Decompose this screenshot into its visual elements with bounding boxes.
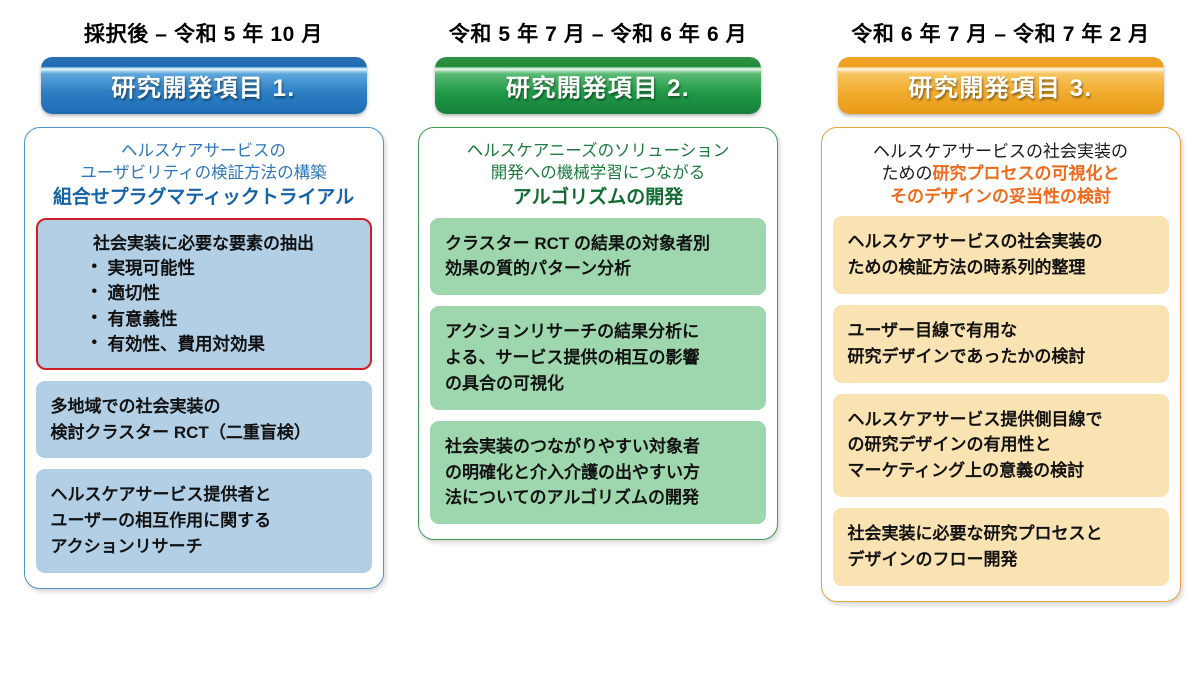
item-card: 多地域での社会実装の 検討クラスター RCT（二重盲検） xyxy=(36,381,372,459)
panel-heading-line-1: ヘルスケアニーズのソリューション xyxy=(432,141,764,163)
item-card: クラスター RCT の結果の対象者別 効果の質的パターン分析 xyxy=(430,218,766,296)
panel-item-3: ヘルスケアサービスの社会実装の ための研究プロセスの可視化と そのデザインの妥当… xyxy=(821,127,1181,602)
panel-heading-line-2-accent: 研究プロセスの可視化と xyxy=(933,164,1120,183)
item-card: 社会実装に必要な研究プロセスと デザインのフロー開発 xyxy=(833,508,1169,586)
list-item: 実現可能性 xyxy=(92,256,360,282)
period-label-2: 令和 5 年 7 月 – 令和 6 年 6 月 xyxy=(449,18,748,48)
card-line: ヘルスケアサービスの社会実装の xyxy=(848,229,1155,255)
highlight-card-title: 社会実装に必要な要素の抽出 xyxy=(48,229,360,256)
panel-heading-line-1: ヘルスケアサービスの社会実装の xyxy=(835,141,1167,163)
card-line: アクションリサーチ xyxy=(51,534,358,560)
list-item: 適切性 xyxy=(92,281,360,307)
column-item-3: 令和 6 年 7 月 – 令和 7 年 2 月 研究開発項目 3. ヘルスケアサ… xyxy=(809,0,1192,700)
panel-heading-line-2: 開発への機械学習につながる xyxy=(432,163,764,185)
item-card: ヘルスケアサービス提供者と ユーザーの相互作用に関する アクションリサーチ xyxy=(36,469,372,572)
card-line: ヘルスケアサービス提供側目線で xyxy=(848,407,1155,433)
banner-label-1: 研究開発項目 1. xyxy=(111,68,295,103)
highlight-card: 社会実装に必要な要素の抽出 実現可能性 適切性 有意義性 有効性、費用対効果 xyxy=(36,218,372,370)
panel-heading-3: ヘルスケアサービスの社会実装の ための研究プロセスの可視化と そのデザインの妥当… xyxy=(833,138,1169,216)
item-card: ユーザー目線で有用な 研究デザインであったかの検討 xyxy=(833,305,1169,383)
panel-heading-line-3: 組合せプラグマティックトライアル xyxy=(38,185,370,210)
card-line: 法についてのアルゴリズムの開発 xyxy=(445,485,752,511)
card-line: の具合の可視化 xyxy=(445,371,752,397)
panel-heading-line-2-plain: ための xyxy=(882,164,933,183)
card-line: ユーザーの相互作用に関する xyxy=(51,508,358,534)
banner-label-2: 研究開発項目 2. xyxy=(506,68,690,103)
panel-heading-line-1: ヘルスケアサービスの xyxy=(38,141,370,163)
card-line: の明確化と介入介護の出やすい方 xyxy=(445,460,752,486)
panel-heading-2: ヘルスケアニーズのソリューション 開発への機械学習につながる アルゴリズムの開発 xyxy=(430,138,766,218)
column-item-2: 令和 5 年 7 月 – 令和 6 年 6 月 研究開発項目 2. ヘルスケアニ… xyxy=(407,0,790,700)
panel-item-1: ヘルスケアサービスの ユーザビリティの検証方法の構築 組合せプラグマティックトラ… xyxy=(24,127,384,589)
panel-heading-line-3: そのデザインの妥当性の検討 xyxy=(835,186,1167,208)
card-line: の研究デザインの有用性と xyxy=(848,432,1155,458)
period-label-1: 採択後 – 令和 5 年 10 月 xyxy=(84,18,323,48)
item-card: アクションリサーチの結果分析に よる、サービス提供の相互の影響 の具合の可視化 xyxy=(430,306,766,409)
card-line: よる、サービス提供の相互の影響 xyxy=(445,345,752,371)
item-card: ヘルスケアサービス提供側目線で の研究デザインの有用性と マーケティング上の意義… xyxy=(833,394,1169,497)
banner-label-3: 研究開発項目 3. xyxy=(908,68,1092,103)
card-line: 社会実装のつながりやすい対象者 xyxy=(445,434,752,460)
card-line: 研究デザインであったかの検討 xyxy=(848,344,1155,370)
highlight-card-bullet-list: 実現可能性 適切性 有意義性 有効性、費用対効果 xyxy=(48,256,360,358)
item-card: ヘルスケアサービスの社会実装の ための検証方法の時系列的整理 xyxy=(833,216,1169,294)
banner-item-2: 研究開発項目 2. xyxy=(435,57,761,114)
column-item-1: 採択後 – 令和 5 年 10 月 研究開発項目 1. ヘルスケアサービスの ユ… xyxy=(12,0,395,700)
item-card: 社会実装のつながりやすい対象者 の明確化と介入介護の出やすい方 法についてのアル… xyxy=(430,421,766,524)
panel-item-2: ヘルスケアニーズのソリューション 開発への機械学習につながる アルゴリズムの開発… xyxy=(418,127,778,540)
card-line: 社会実装に必要な研究プロセスと xyxy=(848,521,1155,547)
card-line: アクションリサーチの結果分析に xyxy=(445,319,752,345)
banner-item-1: 研究開発項目 1. xyxy=(41,57,367,114)
card-line: ユーザー目線で有用な xyxy=(848,318,1155,344)
card-line: ための検証方法の時系列的整理 xyxy=(848,255,1155,281)
panel-heading-line-3: アルゴリズムの開発 xyxy=(432,185,764,210)
period-label-3: 令和 6 年 7 月 – 令和 7 年 2 月 xyxy=(851,18,1150,48)
panel-heading-line-2: ための研究プロセスの可視化と xyxy=(835,163,1167,185)
card-line: クラスター RCT の結果の対象者別 xyxy=(445,231,752,257)
card-line: 効果の質的パターン分析 xyxy=(445,256,752,282)
card-line: 多地域での社会実装の xyxy=(51,394,358,420)
list-item: 有意義性 xyxy=(92,307,360,333)
panel-heading-line-2: ユーザビリティの検証方法の構築 xyxy=(38,163,370,185)
banner-item-3: 研究開発項目 3. xyxy=(838,57,1164,114)
list-item: 有効性、費用対効果 xyxy=(92,332,360,358)
roadmap-diagram: 採択後 – 令和 5 年 10 月 研究開発項目 1. ヘルスケアサービスの ユ… xyxy=(0,0,1200,700)
card-line: マーケティング上の意義の検討 xyxy=(848,458,1155,484)
panel-heading-1: ヘルスケアサービスの ユーザビリティの検証方法の構築 組合せプラグマティックトラ… xyxy=(36,138,372,218)
card-line: 検討クラスター RCT（二重盲検） xyxy=(51,420,358,446)
card-line: デザインのフロー開発 xyxy=(848,547,1155,573)
card-line: ヘルスケアサービス提供者と xyxy=(51,482,358,508)
